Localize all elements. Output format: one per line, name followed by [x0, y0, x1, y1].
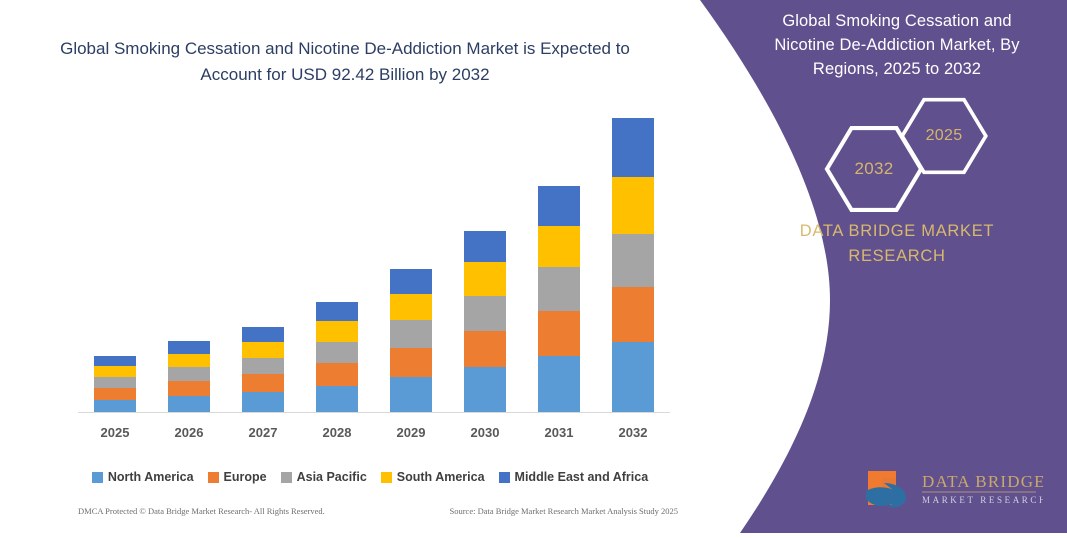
bar-segment	[464, 331, 506, 367]
bar-segment	[612, 342, 654, 413]
legend-label: Europe	[224, 470, 267, 484]
bar-segment	[316, 342, 358, 363]
bar-segment	[612, 234, 654, 288]
bar-segment	[538, 226, 580, 267]
bar-segment	[94, 366, 136, 377]
bar-column	[94, 356, 136, 413]
legend-item[interactable]: Asia Pacific	[281, 470, 367, 484]
hexagon-2025-label: 2025	[898, 96, 990, 176]
bar-column	[612, 118, 654, 413]
bar-segment	[168, 396, 210, 413]
legend-item[interactable]: South America	[381, 470, 485, 484]
brand-name: DATA BRIDGE MARKET RESEARCH	[772, 219, 1022, 269]
bar-segment	[390, 348, 432, 377]
bar-segment	[168, 341, 210, 354]
logo-primary-text: DATA BRIDGE	[922, 472, 1043, 491]
bar-segment	[168, 354, 210, 367]
x-axis-label: 2025	[86, 425, 144, 440]
x-axis-label: 2029	[382, 425, 440, 440]
legend-swatch	[381, 472, 392, 483]
bar-segment	[316, 363, 358, 385]
x-axis-label: 2027	[234, 425, 292, 440]
bar-segment	[464, 262, 506, 295]
x-axis-label: 2026	[160, 425, 218, 440]
bar-segment	[538, 311, 580, 356]
bar-column	[168, 341, 210, 413]
bar-segment	[390, 320, 432, 347]
bar-segment	[94, 377, 136, 388]
bar-segment	[390, 377, 432, 413]
bar-segment	[242, 392, 284, 413]
x-axis-line	[78, 412, 670, 413]
legend-swatch	[92, 472, 103, 483]
bar-segment	[242, 358, 284, 375]
bar-column	[538, 186, 580, 413]
hexagon-2025: 2025	[898, 96, 990, 176]
data-bridge-logo: DATA BRIDGE MARKET RESEARCH	[858, 461, 1043, 513]
bar-segment	[464, 296, 506, 331]
bar-segment	[538, 267, 580, 310]
bar-segment	[316, 302, 358, 321]
x-axis-labels: 20252026202720282029203020312032	[78, 420, 670, 444]
x-axis-label: 2030	[456, 425, 514, 440]
footer: DMCA Protected © Data Bridge Market Rese…	[78, 506, 678, 516]
bar-segment	[94, 388, 136, 400]
bar-segment	[94, 400, 136, 413]
bar-segment	[538, 356, 580, 413]
bar-segment	[390, 269, 432, 294]
infographic-root: Global Smoking Cessation and Nicotine De…	[0, 0, 1067, 533]
chart-legend: North AmericaEuropeAsia PacificSouth Ame…	[60, 470, 680, 484]
purple-panel-content: Global Smoking Cessation and Nicotine De…	[727, 0, 1067, 533]
bar-segment	[316, 386, 358, 413]
bar-segment	[242, 342, 284, 358]
bar-segment	[390, 294, 432, 320]
legend-label: Asia Pacific	[297, 470, 367, 484]
x-axis-label: 2028	[308, 425, 366, 440]
bar-segment	[612, 177, 654, 234]
db-monogram-icon: DATA BRIDGE MARKET RESEARCH	[858, 461, 1043, 513]
legend-label: South America	[397, 470, 485, 484]
logo-secondary-text: MARKET RESEARCH	[922, 495, 1043, 505]
legend-label: Middle East and Africa	[515, 470, 649, 484]
bar-column	[390, 269, 432, 413]
x-axis-label: 2032	[604, 425, 662, 440]
legend-swatch	[281, 472, 292, 483]
bar-column	[464, 231, 506, 413]
panel-title: Global Smoking Cessation and Nicotine De…	[752, 10, 1042, 82]
hexagon-group: 2032 2025	[782, 96, 1012, 201]
x-axis-label: 2031	[530, 425, 588, 440]
bar-segment	[316, 321, 358, 341]
bar-column	[316, 302, 358, 413]
bar-segment	[168, 367, 210, 381]
bar-segment	[464, 367, 506, 413]
bar-segment	[242, 374, 284, 392]
bar-column	[242, 327, 284, 413]
footer-source: Source: Data Bridge Market Research Mark…	[449, 506, 678, 516]
legend-swatch	[499, 472, 510, 483]
bar-group	[78, 118, 670, 413]
legend-swatch	[208, 472, 219, 483]
bar-segment	[94, 356, 136, 366]
bar-segment	[464, 231, 506, 262]
legend-item[interactable]: Europe	[208, 470, 267, 484]
footer-copyright: DMCA Protected © Data Bridge Market Rese…	[78, 506, 325, 516]
bar-segment	[612, 287, 654, 341]
bar-segment	[538, 186, 580, 226]
legend-item[interactable]: North America	[92, 470, 194, 484]
legend-label: North America	[108, 470, 194, 484]
legend-item[interactable]: Middle East and Africa	[499, 470, 649, 484]
chart-area: Global Smoking Cessation and Nicotine De…	[0, 0, 705, 533]
bar-segment	[612, 118, 654, 177]
bar-segment	[242, 327, 284, 342]
bar-segment	[168, 381, 210, 396]
plot-area	[78, 118, 670, 413]
page-title: Global Smoking Cessation and Nicotine De…	[50, 36, 640, 87]
